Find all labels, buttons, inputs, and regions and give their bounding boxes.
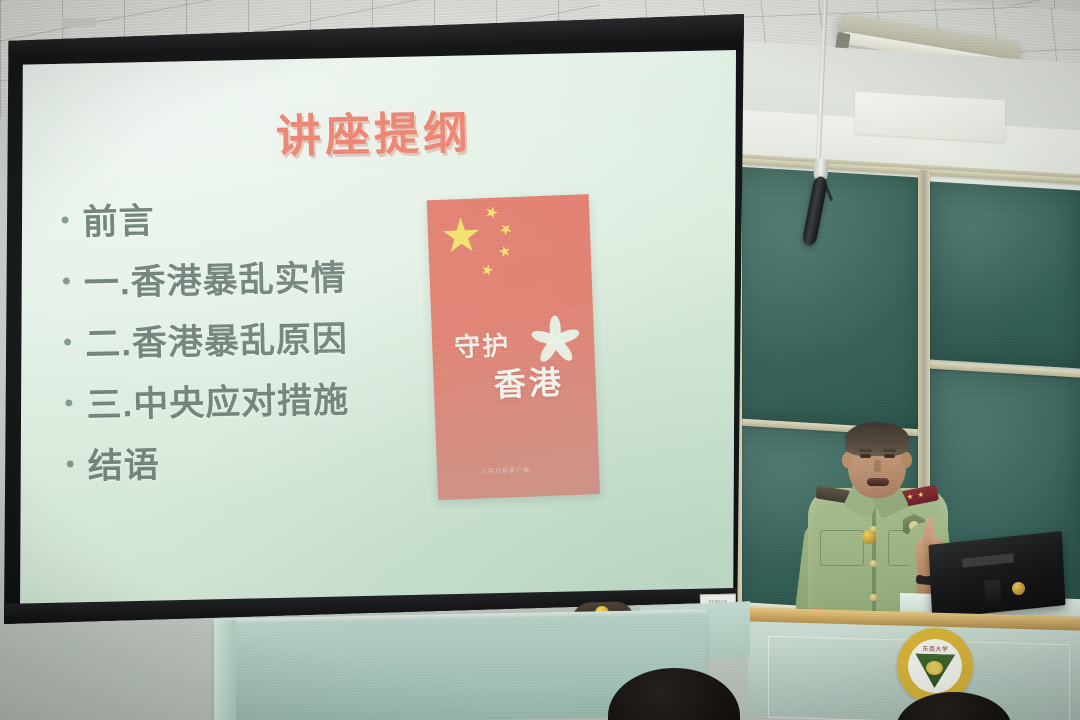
speaker-ear-left [842, 452, 853, 468]
list-item: 结语 [66, 430, 457, 489]
speaker-eyebrow-right [883, 449, 896, 452]
speaker-mouth [867, 478, 889, 486]
chalkboard-upper-right [930, 182, 1080, 369]
chalkboard-upper-left [735, 167, 920, 430]
slide-poster-image: 守护 香港 人民日报客户端 [427, 194, 600, 500]
slide-title: 讲座提纲 [20, 91, 732, 171]
presentation-slide: 讲座提纲 前言 一.香港暴乱实情 二.香港暴乱原因 [20, 50, 736, 612]
bullet-label: 结语 [87, 437, 160, 489]
uniform-pocket-left [820, 530, 864, 566]
speaker-hair [845, 422, 909, 456]
speaker-nose [874, 460, 881, 472]
uniform-medal-icon [862, 530, 876, 544]
bullet-dot-icon [64, 338, 71, 345]
poster-line-1: 守护 [454, 325, 511, 364]
flag-star-small-icon [498, 244, 512, 258]
poster-credit: 人民日报客户端 [481, 465, 530, 476]
speaker-eyebrow-left [859, 449, 872, 452]
poster-line-2: 香港 [493, 357, 565, 406]
front-desk-side [214, 620, 236, 720]
list-item: 前言 [61, 186, 452, 245]
monitor-cable-knob [1012, 582, 1025, 595]
flag-star-small-icon [480, 263, 494, 277]
wall-mounted-strip [855, 92, 1005, 143]
bullet-label: 二.香港暴乱原因 [85, 311, 349, 367]
list-item: 三.中央应对措施 [65, 369, 456, 428]
flag-star-small-icon [497, 221, 514, 238]
bullet-dot-icon [62, 216, 69, 223]
bullet-dot-icon [67, 460, 74, 467]
bullet-label: 三.中央应对措施 [86, 372, 350, 428]
bullet-dot-icon [65, 399, 72, 406]
slide-bullet-list: 前言 一.香港暴乱实情 二.香港暴乱原因 三.中央应对措施 [61, 186, 457, 499]
bullet-label: 一.香港暴乱实情 [83, 250, 347, 306]
bullet-dot-icon [63, 277, 70, 284]
speaker-eye-left [860, 454, 871, 458]
monitor-stand [984, 579, 1002, 608]
speaker-eye-right [884, 454, 895, 458]
bullet-label: 前言 [82, 193, 155, 245]
flag-star-large-icon [441, 216, 480, 255]
list-item: 二.香港暴乱原因 [64, 308, 455, 367]
speaker-ear-right [901, 452, 912, 468]
projection-screen: 讲座提纲 前言 一.香港暴乱实情 二.香港暴乱原因 [4, 14, 744, 624]
list-item: 一.香港暴乱实情 [62, 247, 453, 306]
flag-star-small-icon [484, 204, 500, 220]
lecture-hall-photo: 讲座提纲 前言 一.香港暴乱实情 二.香港暴乱原因 [0, 0, 1080, 720]
screen-mount-bracket [62, 18, 96, 28]
